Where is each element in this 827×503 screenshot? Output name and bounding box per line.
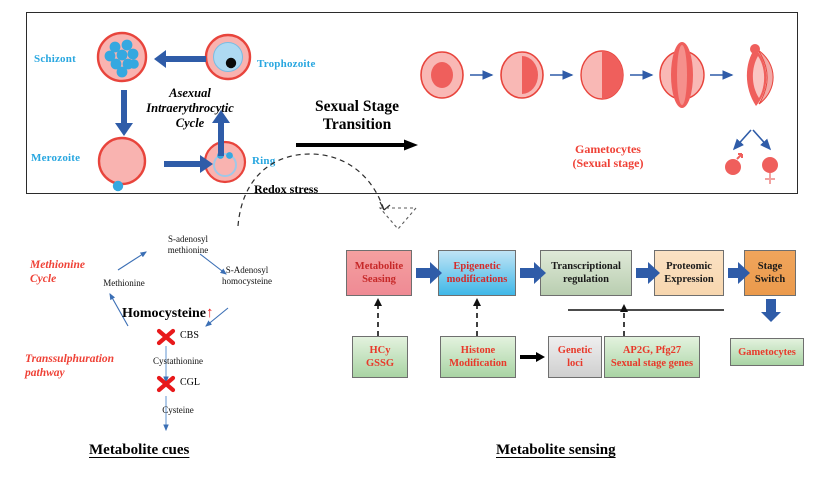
box-sexual-stage-genes[interactable]: AP2G, Pfg27 Sexual stage genes	[604, 336, 700, 378]
box-gametocytes[interactable]: Gametocytes	[730, 338, 804, 366]
sam-line-2: methionine	[148, 245, 228, 256]
sah-line-2: homocysteine	[204, 276, 290, 287]
box-histone-line-2: Modification	[449, 357, 507, 370]
asexual-title-line-1: Asexual	[130, 86, 250, 101]
box-hcy-gssg[interactable]: HCy GSSG	[352, 336, 408, 378]
gametocyte-series	[418, 40, 778, 130]
sam-line-1: S-adenosyl	[148, 234, 228, 245]
sah-line-1: S-Adenosyl	[204, 265, 290, 276]
transsulphuration-label-line-2: pathway	[25, 366, 137, 380]
asexual-cycle-title: Asexual Intraerythrocytic Cycle	[130, 86, 250, 131]
gametocyte-stage-2	[501, 52, 543, 98]
sst-line-1: Sexual Stage	[296, 98, 418, 116]
enzyme-cgl: CGL	[180, 377, 200, 388]
asexual-title-line-3: Cycle	[130, 116, 250, 131]
metabolite-sah: S-Adenosyl homocysteine	[204, 265, 290, 287]
box-sexual-genes-line-2: Sexual stage genes	[611, 357, 693, 370]
enzyme-cbs: CBS	[180, 330, 199, 341]
homocysteine-text: Homocysteine	[122, 306, 206, 321]
gametocytes-caption-line-2: (Sexual stage)	[538, 156, 678, 170]
flow-arrows-top	[346, 250, 806, 300]
metabolite-sam: S-adenosyl methionine	[148, 234, 228, 256]
sst-line-2: Transition	[296, 116, 418, 134]
gametocyte-stage-3	[581, 51, 623, 99]
metabolite-homocysteine: Homocysteine↑	[122, 305, 213, 322]
transsulphuration-label-line-1: Transsulphuration	[25, 352, 137, 366]
box-genetic-loci-line-2: loci	[558, 357, 592, 370]
gametocyte-stage-5	[747, 44, 773, 106]
metabolite-cystathionine: Cystathionine	[130, 356, 226, 367]
box-genetic-loci[interactable]: Genetic loci	[548, 336, 602, 378]
gamete-split	[718, 128, 788, 188]
sexual-stage-transition-title: Sexual Stage Transition	[296, 98, 418, 134]
box-histone-line-1: Histone	[449, 344, 507, 357]
male-gamete	[725, 154, 742, 175]
dashed-connectors	[346, 296, 806, 338]
methionine-cycle-label-line-2: Cycle	[30, 272, 120, 286]
cbs-block-mark	[156, 328, 176, 346]
redox-arrow-triangle	[378, 205, 418, 231]
label-schizont: Schizont	[34, 53, 76, 65]
cgl-block-mark	[156, 375, 176, 393]
caption-metabolite-cues: Metabolite cues	[89, 442, 189, 459]
box-gametocytes-label: Gametocytes	[738, 346, 796, 359]
caption-metabolite-sensing: Metabolite sensing	[496, 442, 616, 459]
histone-to-loci-arrow	[520, 351, 546, 363]
box-hcy-line-2: GSSG	[366, 357, 394, 370]
metabolite-cysteine: Cysteine	[140, 405, 216, 416]
transsulphuration-label: Transsulphuration pathway	[25, 352, 137, 380]
box-sexual-genes-line-1: AP2G, Pfg27	[611, 344, 693, 357]
box-genetic-loci-line-1: Genetic	[558, 344, 592, 357]
methionine-cycle-label-line-1: Methionine	[30, 258, 120, 272]
female-gamete	[762, 157, 778, 184]
label-merozoite: Merozoite	[31, 152, 80, 164]
box-hcy-line-1: HCy	[366, 344, 394, 357]
gametocytes-caption: Gametocytes (Sexual stage)	[538, 142, 678, 170]
asexual-title-line-2: Intraerythrocytic	[130, 101, 250, 116]
methionine-cycle-label: Methionine Cycle	[30, 258, 120, 286]
gametocytes-caption-line-1: Gametocytes	[538, 142, 678, 156]
gametocyte-stage-1	[421, 52, 463, 98]
homocysteine-up-arrow: ↑	[206, 305, 214, 321]
box-histone-modification[interactable]: Histone Modification	[440, 336, 516, 378]
gametocyte-stage-4	[660, 42, 704, 108]
methionine-cycle-diagram	[88, 234, 328, 424]
redox-stress-label: Redox stress	[254, 182, 318, 197]
